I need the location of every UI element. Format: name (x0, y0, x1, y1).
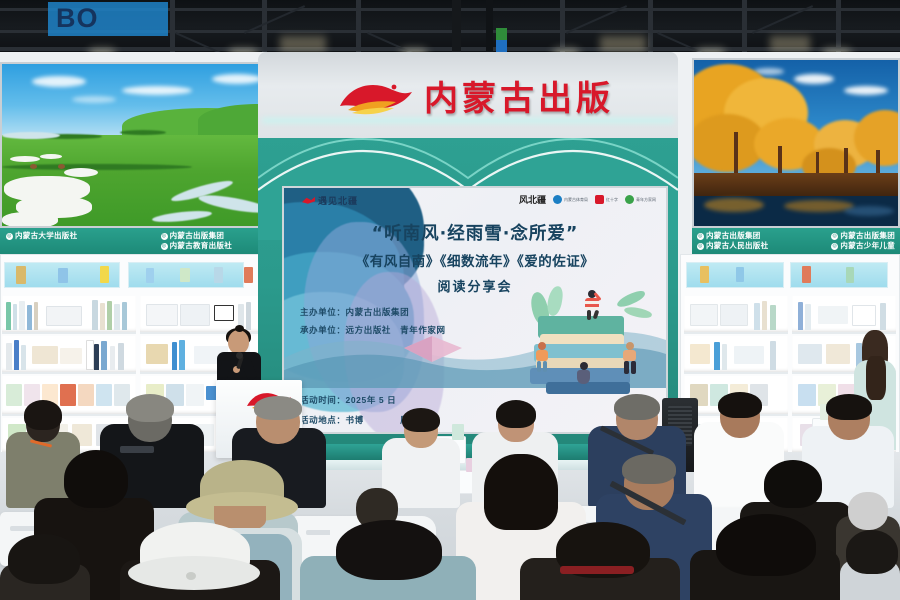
sponsor-logo: 内蒙古体育局 (553, 195, 588, 204)
sponsor-label: 风北疆 (519, 193, 546, 206)
book-fair-photo: BO (0, 0, 900, 600)
sponsor-logo: 红十字 (595, 195, 618, 204)
shelf-sign-label: 内蒙古教育出版社 (170, 241, 232, 251)
grassland-photo-panel (0, 62, 268, 228)
shelf-sign-label: 内蒙古出版集团 (170, 231, 225, 241)
event-title: “听南风·经雨雪·念所爱” (284, 220, 666, 245)
publisher-mark-icon: ◎ (6, 233, 13, 240)
brand-name: 内蒙古出版 (424, 76, 614, 122)
shelf-sign-label: 内蒙古人民出版社 (706, 241, 768, 251)
publisher-mark-icon: ◎ (697, 243, 704, 250)
red-wave-logo-icon (338, 80, 414, 120)
publisher-mark-icon: ◎ (161, 233, 168, 240)
publisher-mark-icon: ◎ (697, 233, 704, 240)
sponsor-logo: 青年方家网 (625, 195, 656, 204)
shelf-sign-label: 内蒙古出版集团 (706, 231, 761, 241)
event-book-titles: 《有风自南》《细数流年》《爱的佐证》 (284, 250, 666, 270)
meet-north-logo: 遇见北疆 (302, 194, 358, 207)
shelf-sign-label: 内蒙古出版集团 (840, 231, 895, 241)
shelf-sign-label: 内蒙古少年儿童 (840, 241, 895, 251)
sponsor-label: 青年方家网 (636, 197, 656, 202)
sponsor-badge-icon (553, 195, 562, 204)
sponsor-badge-icon (595, 195, 604, 204)
audience-row-near (0, 520, 900, 600)
red-swoosh-icon (302, 197, 315, 205)
organizer-value: 内蒙古出版集团 (346, 307, 410, 317)
hall-banner-text: BO (56, 2, 99, 34)
organizer-label: 主办单位： (300, 307, 346, 317)
sponsor-label: 红十字 (606, 197, 618, 202)
microphone-head-icon (236, 352, 243, 359)
sponsor-badge-icon (625, 195, 634, 204)
shelf-sign-right: ◎ 内蒙古出版集团 ◎ 内蒙古人民出版社 ◎ 内蒙古出版集团 ◎ 内蒙古少年儿童 (692, 228, 900, 254)
sponsor-logo: 风北疆 (519, 193, 546, 206)
publisher-mark-icon: ◎ (161, 243, 168, 250)
shelf-sign-left: ◎ 内蒙古大学出版社 ◎ 内蒙古出版集团 ◎ 内蒙古教育出版社 (0, 228, 268, 254)
meet-north-label: 遇见北疆 (318, 194, 358, 207)
publisher-mark-icon: ◎ (831, 233, 838, 240)
publisher-mark-icon: ◎ (831, 243, 838, 250)
organizer-line: 主办单位：内蒙古出版集团 (300, 306, 409, 318)
sponsor-logo-row: 风北疆 内蒙古体育局 红十字 青年方家网 (519, 193, 656, 206)
sponsor-label: 内蒙古体育局 (564, 197, 588, 202)
led-presentation-screen: 遇见北疆 风北疆 内蒙古体育局 红十字 青年方家网 “听南风·经雨雪·念所爱” … (284, 188, 666, 432)
autumn-forest-photo-panel (692, 58, 900, 228)
shelf-sign-label: 内蒙古大学出版社 (15, 231, 77, 241)
